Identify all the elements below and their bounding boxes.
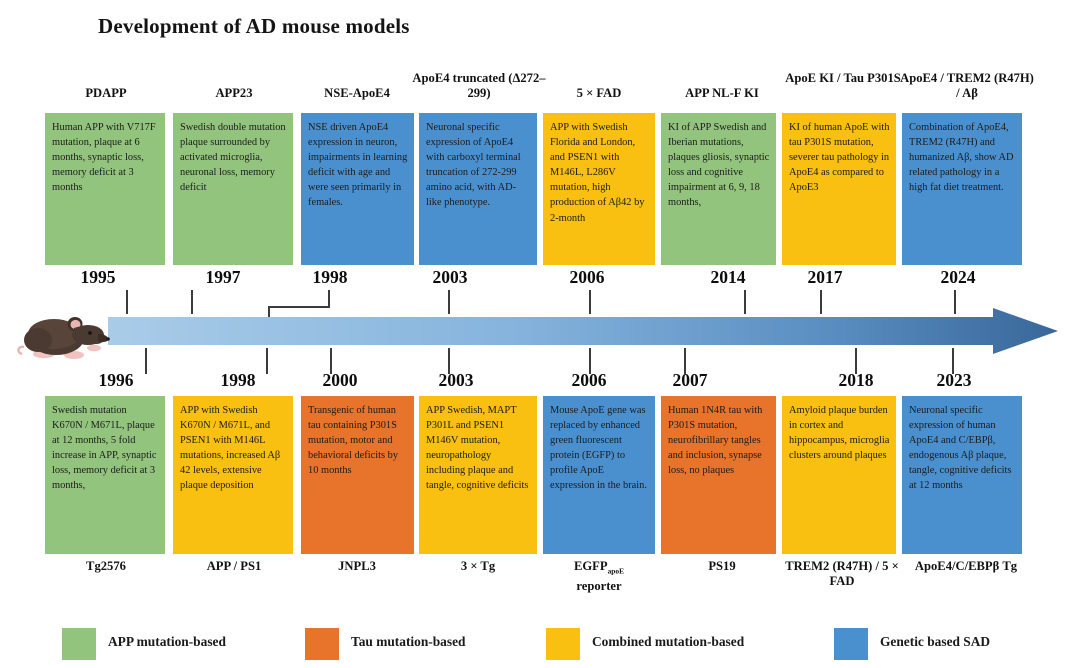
top-model-name-2: NSE-ApoE4	[298, 86, 416, 101]
legend-swatch-genetic-sad	[834, 628, 868, 660]
bottom-card-jnpl3: Transgenic of human tau containing P301S…	[301, 396, 414, 554]
top-year-2014: 2014	[690, 267, 766, 288]
top-card-pdapp: Human APP with V717F mutation, plaque at…	[45, 113, 165, 265]
bottom-card-app-ps1: APP with Swedish K670N / M671L, and PSEN…	[173, 396, 293, 554]
top-year-2024: 2024	[920, 267, 996, 288]
bottom-card-ps19: Human 1N4R tau with P301S mutation, neur…	[661, 396, 776, 554]
bottom-year-1998: 1998	[200, 370, 276, 391]
bottom-model-name-3: 3 × Tg	[416, 559, 540, 574]
bottom-model-name-4: EGFPapoE reporter	[540, 559, 658, 594]
bottom-year-1996: 1996	[78, 370, 154, 391]
bottom-year-2006: 2006	[551, 370, 627, 391]
bottom-year-2007: 2007	[652, 370, 728, 391]
egfp-label-main: EGFP	[574, 559, 608, 573]
bottom-year-2023: 2023	[916, 370, 992, 391]
top-card-app23: Swedish double mutation plaque surrounde…	[173, 113, 293, 265]
mouse-illustration	[16, 296, 116, 368]
bottom-year-2018: 2018	[818, 370, 894, 391]
legend-swatch-app-mutation	[62, 628, 96, 660]
top-year-2006: 2006	[549, 267, 625, 288]
top-year-1997: 1997	[185, 267, 261, 288]
top-card-apoe4-trem2: Combination of ApoE4, TREM2 (R47H) and h…	[902, 113, 1022, 265]
bottom-model-name-1: APP / PS1	[170, 559, 298, 574]
bottom-model-name-6: TREM2 (R47H) / 5 × FAD	[782, 559, 902, 589]
top-model-name-3: ApoE4 truncated (Δ272–299)	[410, 71, 548, 101]
bottom-year-2000: 2000	[302, 370, 378, 391]
legend-label-genetic-sad: Genetic based SAD	[880, 634, 990, 650]
top-model-name-1: APP23	[170, 86, 298, 101]
legend-label-app-mutation: APP mutation-based	[108, 634, 226, 650]
legend-swatch-tau-mutation	[305, 628, 339, 660]
top-model-name-5: APP NL-F KI	[658, 86, 786, 101]
top-card-apoe4-truncated: Neuronal specific expression of ApoE4 wi…	[419, 113, 537, 265]
bottom-card-apoe4-cebpb: Neuronal specific expression of human Ap…	[902, 396, 1022, 554]
top-year-1998: 1998	[292, 267, 368, 288]
bottom-model-name-2: JNPL3	[298, 559, 416, 574]
top-year-1995: 1995	[60, 267, 136, 288]
legend-label-combined-mutation: Combined mutation-based	[592, 634, 744, 650]
egfp-label-line2: reporter	[576, 579, 621, 593]
bottom-year-2003: 2003	[418, 370, 494, 391]
legend-swatch-combined-mutation	[546, 628, 580, 660]
top-card-nse-apoe4: NSE driven ApoE4 expression in neuron, i…	[301, 113, 414, 265]
timeline-arrow	[108, 308, 1058, 354]
bottom-card-egfp-reporter: Mouse ApoE gene was replaced by enhanced…	[543, 396, 655, 554]
bottom-card-tg2576: Swedish mutation K670N / M671L, plaque a…	[45, 396, 165, 554]
top-year-2017: 2017	[787, 267, 863, 288]
legend-label-tau-mutation: Tau mutation-based	[351, 634, 465, 650]
top-model-name-6: ApoE KI / Tau P301S	[784, 71, 902, 86]
legend: APP mutation-based Tau mutation-based Co…	[0, 628, 1080, 668]
bottom-card-3xtg: APP Swedish, MAPT P301L and PSEN1 M146V …	[419, 396, 537, 554]
top-model-name-4: 5 × FAD	[540, 86, 658, 101]
timeline-figure: Development of AD mouse models PDAPP APP…	[0, 0, 1080, 668]
top-model-name-7: ApoE4 / TREM2 (R47H) / Aβ	[900, 71, 1034, 101]
top-model-name-0: PDAPP	[42, 86, 170, 101]
bottom-model-name-5: PS19	[658, 559, 786, 574]
bottom-model-name-0: Tg2576	[42, 559, 170, 574]
page-title: Development of AD mouse models	[98, 14, 410, 39]
bottom-card-trem2-5xfad: Amyloid plaque burden in cortex and hipp…	[782, 396, 896, 554]
top-year-2003: 2003	[412, 267, 488, 288]
egfp-label-sub: apoE	[608, 567, 624, 576]
top-card-5xfad: APP with Swedish Florida and London, and…	[543, 113, 655, 265]
top-card-apoe-ki-tau: KI of human ApoE with tau P301S mutation…	[782, 113, 896, 265]
top-card-app-nl-f-ki: KI of APP Swedish and Iberian mutations,…	[661, 113, 776, 265]
bottom-model-name-7: ApoE4/C/EBPβ Tg	[896, 559, 1036, 574]
